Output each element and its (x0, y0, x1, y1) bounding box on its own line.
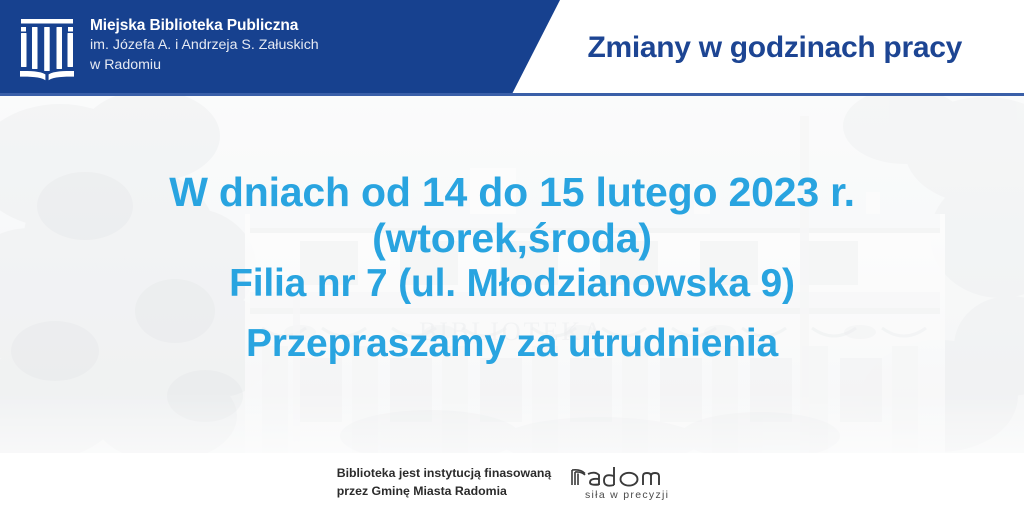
radom-tagline: siła w precyzji (585, 489, 669, 501)
library-columns-book-icon (16, 13, 78, 81)
notice-banner: BIBLIOTEKA W dniach od 14 do 15 lutego 2… (0, 0, 1024, 512)
main-message: W dniach od 14 do 15 lutego 2023 r. (wto… (0, 96, 1024, 453)
logo-subtitle-line-1: im. Józefa A. i Andrzeja S. Załuskich (90, 36, 319, 55)
header-band: Miejska Biblioteka Publiczna im. Józefa … (0, 0, 1024, 96)
funding-note-line-2: przez Gminę Miasta Radomia (337, 483, 552, 500)
library-logo-text: Miejska Biblioteka Publiczna im. Józefa … (90, 13, 319, 75)
funding-note: Biblioteka jest instytucją finasowaną pr… (337, 465, 552, 500)
radom-logo[interactable]: siła w precyzji (569, 463, 687, 503)
message-line-4: Przepraszamy za utrudnienia (246, 322, 778, 366)
header-title-text: Zmiany w godzinach pracy (587, 31, 962, 65)
radom-r-icon (572, 469, 585, 484)
logo-subtitle-line-2: w Radomiu (90, 56, 319, 75)
message-line-1: W dniach od 14 do 15 lutego 2023 r. (169, 169, 855, 215)
funding-note-line-1: Biblioteka jest instytucją finasowaną (337, 465, 552, 482)
message-line-3: Filia nr 7 (ul. Młodzianowska 9) (229, 262, 795, 306)
logo-title-line: Miejska Biblioteka Publiczna (90, 16, 319, 36)
library-logo[interactable]: Miejska Biblioteka Publiczna im. Józefa … (16, 13, 319, 81)
header-underline (0, 93, 1024, 96)
footer-bar: Biblioteka jest instytucją finasowaną pr… (0, 453, 1024, 512)
message-line-2: (wtorek,środa) (372, 215, 652, 261)
